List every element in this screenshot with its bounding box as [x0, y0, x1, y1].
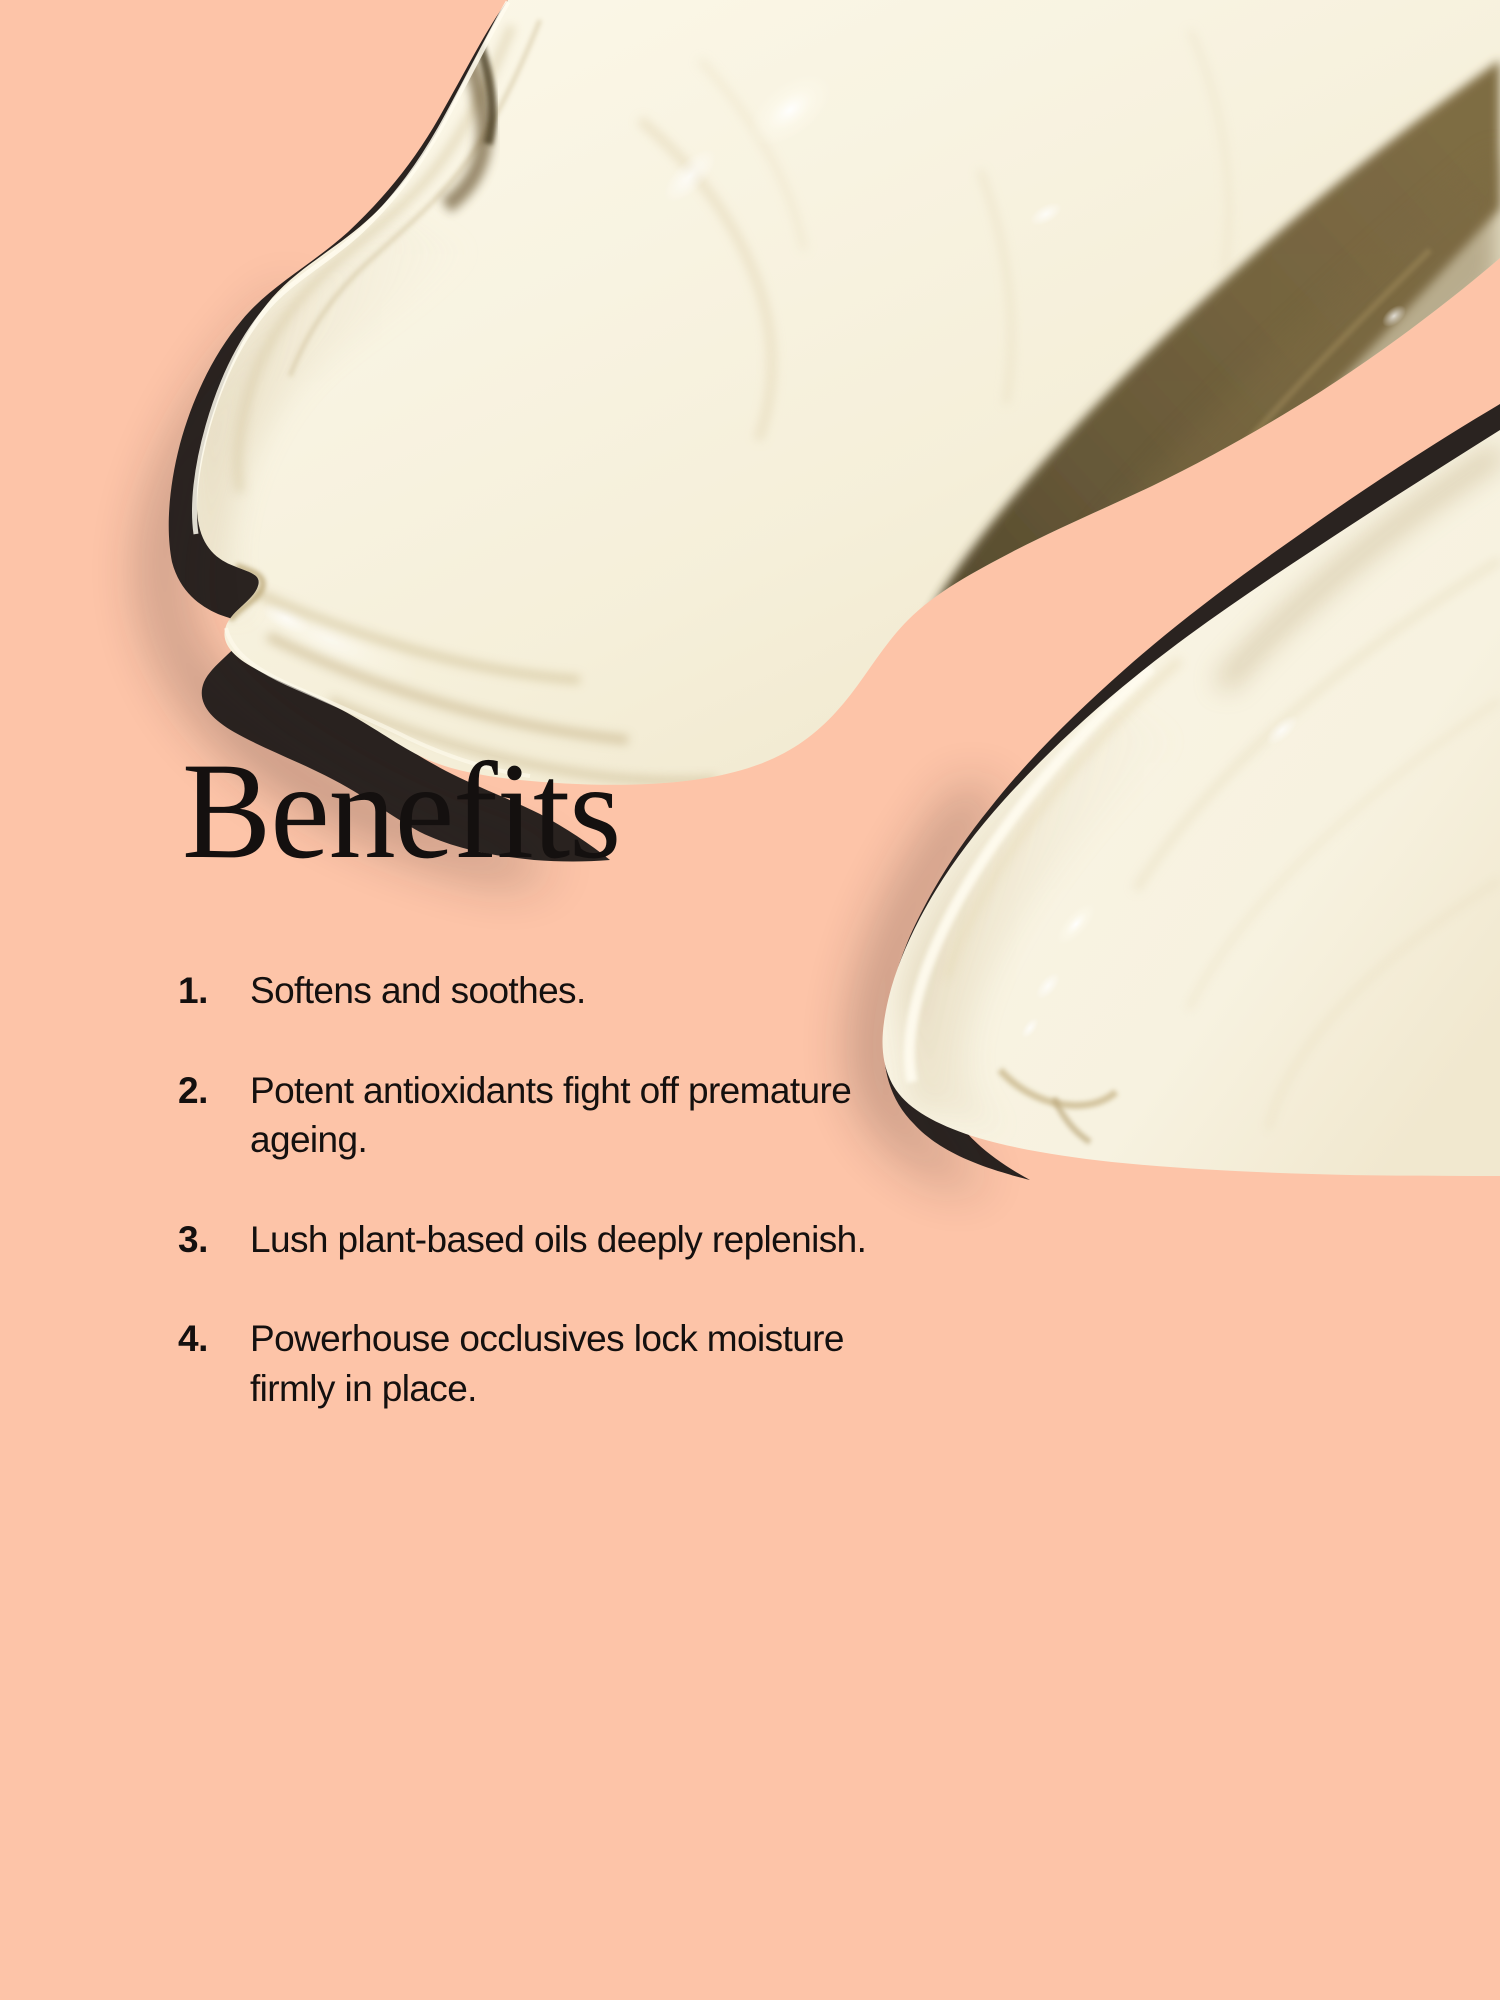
benefit-number: 1. [178, 966, 250, 1016]
benefit-number: 3. [178, 1215, 250, 1265]
benefits-content: Benefits 1. Softens and soothes. 2. Pote… [178, 742, 998, 1413]
benefit-number: 2. [178, 1066, 250, 1116]
cream-dollop-upper [188, 0, 1500, 785]
cream-shadow-upper [169, 0, 624, 862]
benefit-text: Potent antioxidants fight off premature … [250, 1066, 890, 1165]
benefit-item-1: 1. Softens and soothes. [178, 966, 998, 1016]
benefit-text: Softens and soothes. [250, 966, 890, 1016]
benefit-item-4: 4. Powerhouse occlusives lock moisture f… [178, 1314, 998, 1413]
benefits-poster: Benefits 1. Softens and soothes. 2. Pote… [0, 0, 1500, 2000]
benefit-text: Powerhouse occlusives lock moisture firm… [250, 1314, 890, 1413]
benefits-list: 1. Softens and soothes. 2. Potent antiox… [178, 966, 998, 1413]
page-title: Benefits [182, 742, 974, 880]
cream-crease [908, 60, 1500, 722]
benefit-item-3: 3. Lush plant-based oils deeply replenis… [178, 1215, 998, 1265]
benefit-number: 4. [178, 1314, 250, 1364]
benefit-item-2: 2. Potent antioxidants fight off prematu… [178, 1066, 998, 1165]
benefit-text: Lush plant-based oils deeply replenish. [250, 1215, 890, 1265]
cream-gloss-highlight [736, 60, 844, 160]
